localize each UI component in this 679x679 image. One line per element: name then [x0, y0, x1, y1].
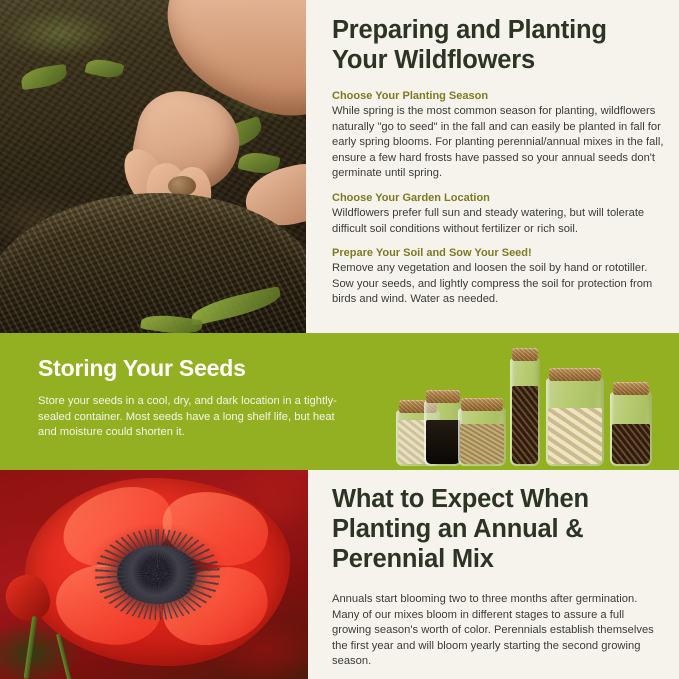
- expect-body: Annuals start blooming two to three mont…: [332, 592, 665, 670]
- poppy-stamens: [95, 529, 220, 620]
- red-poppy-image: [0, 470, 308, 679]
- poppy-center: [117, 545, 197, 604]
- seed-jars-image: [386, 337, 679, 470]
- poppy-stem: [23, 616, 37, 679]
- expect-heading: What to Expect When Planting an Annual &…: [332, 484, 665, 574]
- garden-location-body: Wildflowers prefer full sun and steady w…: [332, 206, 665, 237]
- planting-season-subheading: Choose Your Planting Season: [332, 89, 665, 103]
- seed-jar: [546, 368, 604, 466]
- prepare-soil-body: Remove any vegetation and loosen the soi…: [332, 261, 665, 308]
- preparing-heading: Preparing and Planting Your Wildflowers: [332, 15, 665, 75]
- seed-jar: [610, 382, 652, 466]
- infographic-page: Preparing and Planting Your Wildflowers …: [0, 0, 679, 679]
- prepare-soil-subheading: Prepare Your Soil and Sow Your Seed!: [332, 246, 665, 260]
- seed-jar: [424, 390, 462, 466]
- seed-jar: [458, 398, 506, 466]
- storing-heading: Storing Your Seeds: [38, 355, 338, 382]
- planting-season-block: Choose Your Planting Season While spring…: [332, 89, 665, 182]
- seed-jar: [510, 348, 540, 466]
- hands-sowing-seeds-image: [0, 0, 306, 333]
- planting-season-body: While spring is the most common season f…: [332, 104, 665, 182]
- storing-body: Store your seeds in a cool, dry, and dar…: [38, 394, 338, 441]
- what-to-expect-section: What to Expect When Planting an Annual &…: [308, 470, 679, 679]
- garden-location-block: Choose Your Garden Location Wildflowers …: [332, 191, 665, 237]
- storing-seeds-section: Storing Your Seeds Store your seeds in a…: [0, 333, 679, 470]
- preparing-section: Preparing and Planting Your Wildflowers …: [306, 0, 679, 333]
- prepare-soil-block: Prepare Your Soil and Sow Your Seed! Rem…: [332, 246, 665, 308]
- garden-location-subheading: Choose Your Garden Location: [332, 191, 665, 205]
